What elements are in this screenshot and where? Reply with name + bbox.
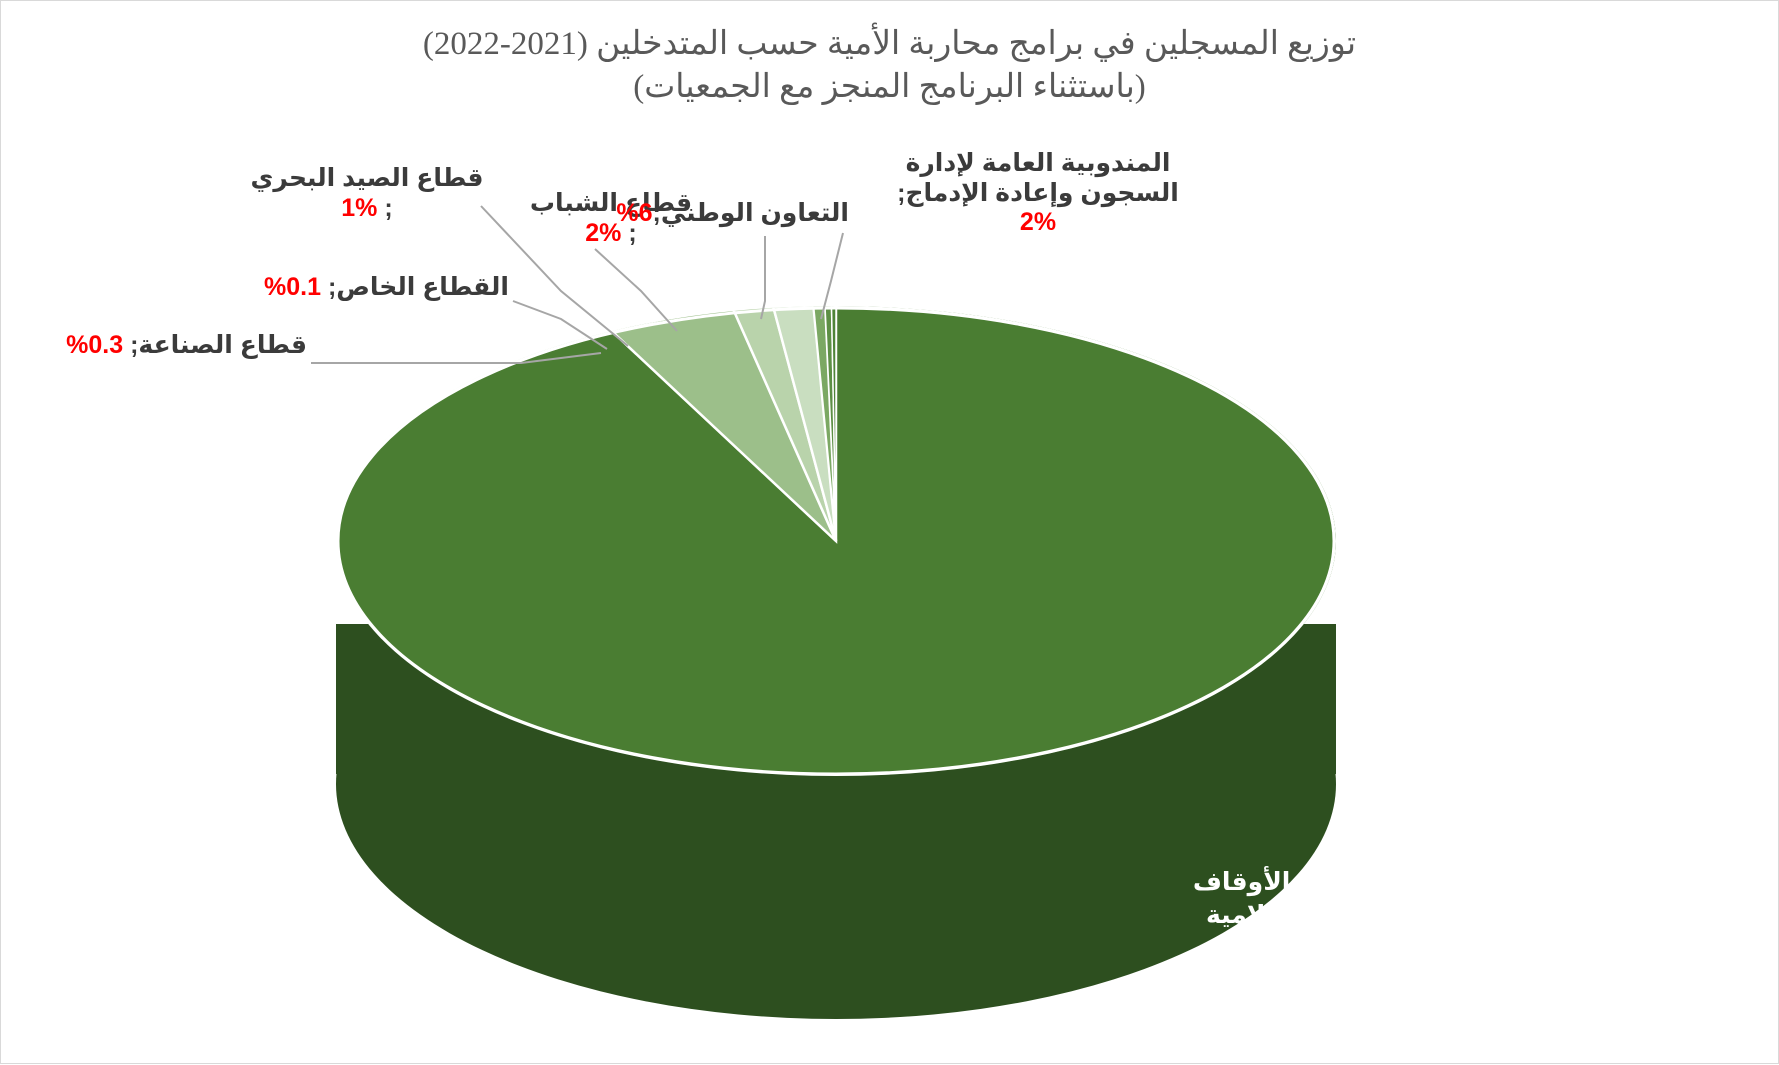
callout-label-prison: المندوبية العامة لإدارة السجون وإعادة ال…: [887, 149, 1189, 238]
callout-sep-fishing: ;: [384, 194, 392, 222]
callout-text-cooperation: التعاون الوطني;: [653, 199, 849, 227]
callout-value-prison: 2%: [1020, 208, 1056, 236]
chart-subtitle-line-2: (باستثناء البرنامج المنجز مع الجمعيات): [1, 66, 1778, 109]
slice-value-awqaf: 89%: [1171, 933, 1471, 966]
callout-label-fishing: قطاع الصيد البحري ; 1%: [237, 164, 497, 223]
callout-value-fishing: 1%: [341, 194, 377, 222]
callout-text-private: القطاع الخاص;: [328, 273, 509, 301]
callout-text-prison-line-2: السجون وإعادة الإدماج;: [897, 179, 1179, 207]
callout-label-industry: قطاع الصناعة; 0.3%: [1, 331, 307, 361]
callout-label-cooperation: التعاون الوطني;6%: [649, 199, 849, 229]
chart-title-line-1: توزيع المسجلين في برامج محاربة الأمية حس…: [1, 23, 1778, 66]
chart-title-block: توزيع المسجلين في برامج محاربة الأمية حس…: [1, 23, 1778, 109]
callout-text-industry: قطاع الصناعة;: [130, 331, 307, 359]
callout-text-prison-line-1: المندوبية العامة لإدارة: [906, 149, 1171, 177]
chart-canvas: توزيع المسجلين في برامج محاربة الأمية حس…: [0, 0, 1779, 1064]
pie-chart: برنامج وزارة الأوقاف والشؤون الإسلامية 8…: [336, 306, 1336, 926]
callout-text-fishing: قطاع الصيد البحري: [251, 164, 484, 192]
callout-value-private: 0.1%: [264, 273, 321, 301]
callout-value-cooperation: 6%: [616, 199, 652, 227]
callout-value-industry: 0.3%: [66, 331, 123, 359]
pie-top-face: [336, 306, 1336, 776]
callout-label-private: القطاع الخاص; 0.1%: [179, 273, 509, 303]
